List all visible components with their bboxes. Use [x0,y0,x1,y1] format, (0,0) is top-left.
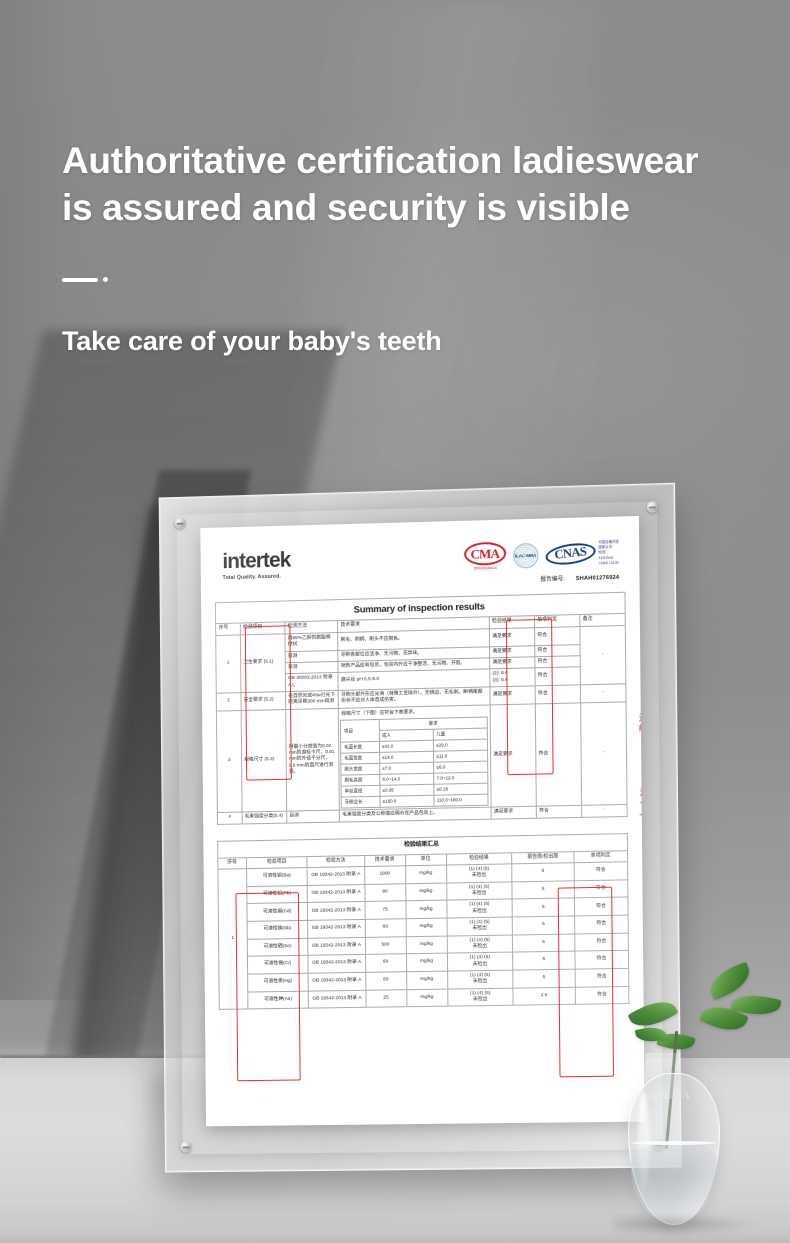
table-row: 3 规格尺寸 (5.3) 用最小分度值为0.02 mm的游标卡尺、0.01 mm… [216,701,627,812]
t2-r0-method: GB 19342-2013 附录 A [307,867,364,886]
r4-no: 4 [217,812,241,824]
spec-dimension-subtable: 项目 要求 成人 儿童 毛面长度 ≤42.0 ≤29.0 [340,717,488,809]
t2-r6-result: (1) (4) (5) 未检出 [447,970,513,989]
t2-r3-result: (1) (4) (5) 未检出 [447,917,513,936]
brand-name: intertek [222,550,290,573]
t2-r3-verdict: 符合 [574,915,628,934]
table1-th-0: 序号 [216,623,240,635]
t2-r1-req: 90 [364,883,405,901]
t2-r4-item: 可溶性硒(Se) [247,938,308,957]
spec-r0-c0: 毛面长度 [341,742,379,754]
r2-note: - [580,684,626,703]
cma-code: 200920340414 [464,566,506,571]
r1-s1-method: 用65%乙醇的脱脂棉擦拭 [285,632,338,651]
report-number-label: 报告编号: [540,576,565,583]
r3-no: 3 [216,710,241,813]
r4-item: 毛束强度分类(5.4) [242,811,287,823]
t2-r1-result: (1) (4) (5) 未检出 [446,882,512,901]
table2-th-3: 技术要求 [364,854,405,866]
t2-r0-result: (1) (4) (5) 未检出 [446,864,512,883]
t2-r5-item: 可溶性铬(Cr) [247,956,308,975]
r4-result: 满足要求 [491,807,536,819]
r3-req-cell: 规格尺寸（下图）应符合下表要求。 项目 要求 成人 儿童 毛面长 [338,704,490,810]
r1-s1-verdict: 符合 [534,626,580,645]
t2-r7-limit: 2.5 [513,987,575,1006]
inspection-summary-table-wrap: Summary of inspection results 序号 检测项目 检测… [215,592,628,825]
t2-r4-verdict: 符合 [574,933,628,952]
brand-tagline: Total Quality. Assured. [223,573,291,581]
t2-r5-unit: mg/kg [406,953,447,971]
t2-r7-item: 可溶性砷(As) [247,991,308,1009]
t2-r1-item: 可溶性铅(Pb) [246,885,307,904]
hero-text-block: Authoritative certification ladieswear i… [62,138,702,357]
t2-r1-method: GB 19342-2013 附录 A [307,884,364,903]
t2-r6-unit: mg/kg [406,971,447,989]
frame-screw-bottom-left [181,1141,192,1152]
t2-r7-unit: mg/kg [406,989,447,1007]
cnas-side-text: 中国合格评定 国家认可 检测 TESTING CNAS L0109 [598,540,619,566]
spec-r1-c0: 毛面宽度 [341,753,379,765]
cnas-line-5: CNAS L0109 [599,560,620,566]
t2-r3-method: GB 19342-2013 附录 A [308,919,365,938]
t2-r3-unit: mg/kg [406,918,447,936]
intertek-logo: intertek Total Quality. Assured. [214,542,290,582]
r1-s4-method: GB 30003-2013 附录A△ [285,673,338,692]
vase-shadow [614,1213,754,1235]
r4-method: 目测 [286,810,339,822]
r4-verdict: 符合 [536,806,582,818]
r1-s4-result: (2): 6.6 (3): 6.9 [489,668,534,687]
spec-r5-c1: ≥150.0 [380,795,434,807]
r3-note: - [580,701,627,805]
hero-headline: Authoritative certification ladieswear i… [62,138,702,231]
t2-r4-req: 500 [365,936,406,954]
t2-r7-req: 25 [365,989,406,1007]
divider-dot [103,277,108,282]
t2-r0-verdict: 符合 [574,862,628,881]
r2-verdict: 符合 [535,685,581,704]
table2-th-0: 序号 [218,857,246,869]
ilac-label: ILAC-MRA [515,552,536,558]
r1-note: - [580,625,626,684]
divider-line [62,278,98,282]
t2-r7-method: GB 19342-2013 附录 A [308,990,365,1008]
table2-th-4: 单位 [405,854,446,866]
t2-r6-req: 60 [365,972,406,990]
t2-r6-method: GB 19342-2013 附录 A [308,972,365,990]
r2-no: 2 [216,692,240,710]
accreditation-marks-block: CMA 200920340414 ILAC-MRA CNAS [464,532,626,584]
cma-mark: CMA 200920340414 [464,542,506,571]
r1-no: 1 [216,635,241,693]
spec-th-item: 项目 [341,720,379,743]
test-results-table: 检验结果汇总 序号 检验项目 检验方法 技术要求 单位 检验结果 报告限/检出限… [217,833,629,1010]
t2-r6-item: 可溶性汞(Hg) [247,973,308,991]
r2-result: 满足要求 [490,686,535,705]
t2-r3-item: 可溶性锑(Sb) [247,920,308,939]
spec-r4-c0: 单丝直径 [342,785,380,797]
t2-r0-limit: 5 [512,863,574,882]
report-number-line: 报告编号: SHAH01276924 [464,573,619,585]
t2-r6-limit: 5 [513,969,575,988]
spec-r3-c0: 刷毛高度 [341,774,379,786]
t2-r4-limit: 5 [513,934,575,953]
t2-r0-req: 1000 [364,866,405,884]
t2-r4-method: GB 19342-2013 附录 A [308,937,365,956]
t2-r1-verdict: 符合 [574,880,628,899]
report-number-value: SHAH01276924 [576,575,620,582]
certificate-document: intertek Total Quality. Assured. CMA 200… [200,516,644,1126]
t2-r2-req: 75 [365,901,406,919]
t2-r3-limit: 5 [512,916,574,935]
r3-method: 用最小分度值为0.02 mm的游标卡尺、0.01 mm的外径千分尺、0.5 mm… [285,708,339,812]
hero-divider [62,277,702,282]
t2-r5-method: GB 19342-2013 附录 A [308,955,365,973]
t2-r4-unit: mg/kg [406,936,447,954]
t2-r7-result: (1) (4) (5) 未检出 [447,988,513,1007]
t2-r2-method: GB 19342-2013 附录 A [308,902,365,921]
acrylic-frame: intertek Total Quality. Assured. CMA 200… [159,483,682,1173]
ilac-mra-badge-icon: ILAC-MRA [513,542,538,568]
table-row: 牙刷全长 ≥150.0 110.0~180.0 [342,794,489,808]
inspection-summary-table: Summary of inspection results 序号 检测项目 检测… [215,592,628,825]
test-results-table-wrap: 检验结果汇总 序号 检验项目 检验方法 技术要求 单位 检验结果 报告限/检出限… [217,833,629,1010]
t2-r1-unit: mg/kg [405,883,446,901]
t2-r0-item: 可溶性钡(Ba) [246,868,307,887]
r3-verdict: 符合 [535,702,581,806]
spec-r5-c0: 牙刷全长 [342,796,380,808]
cnas-badge-icon: CNAS [545,541,596,566]
t2-r1-limit: 5 [512,880,574,899]
t2-r3-req: 60 [365,919,406,937]
r2-item: 安全要求 (5.2) [241,691,286,710]
hero-subheadline: Take care of your baby's teeth [62,326,702,357]
t2-r2-result: (1) (4) (5) 未检出 [446,899,512,918]
t2-r2-verdict: 符合 [574,897,628,916]
t2-r4-result: (1) (4) (5) 未检出 [447,935,513,954]
t2-r0-unit: mg/kg [405,865,446,883]
t2-r5-result: (1) (4) (5) 未检出 [447,952,513,971]
ilac-mra-mark: ILAC-MRA [513,542,538,568]
r3-result: 满足要求 [490,703,536,807]
leaf-icon-1 [705,962,755,1001]
spec-r5-c2: 110.0~180.0 [434,794,488,806]
decorative-vase-with-plant [612,965,787,1243]
certificate-letterhead: intertek Total Quality. Assured. CMA 200… [214,532,625,591]
r1-s4-verdict: 符合 [535,667,581,686]
accreditation-marks: CMA 200920340414 ILAC-MRA CNAS [464,539,620,571]
r2-method: 在自然光或40w灯光下距离牙刷300 mm目测 [285,690,338,709]
r1-s1-result: 满足要求 [489,628,534,647]
t2-group-no: 1 [218,869,248,1010]
t2-r5-limit: 5 [513,951,575,970]
cnas-mark: CNAS 中国合格评定 国家认可 检测 TESTING CNAS L0109 [545,540,619,568]
r4-req: 毛束强度分类及公称值应明示在产品包装上。 [339,807,491,821]
cma-badge-icon: CMA [464,542,506,566]
t2-r2-unit: mg/kg [406,900,447,918]
r1-item: 卫生要求 (5.1) [240,634,285,693]
spec-r2-c0: 刷头宽度 [341,763,379,775]
r4-note: - [581,805,627,817]
t2-r5-req: 60 [365,954,406,972]
r3-item: 规格尺寸 (5.3) [241,709,287,812]
t2-r2-item: 可溶性镉(Cd) [247,903,308,922]
t2-r2-limit: 5 [512,898,574,917]
vase-highlight [638,1093,650,1189]
table2-th-7: 单项判定 [574,850,628,863]
